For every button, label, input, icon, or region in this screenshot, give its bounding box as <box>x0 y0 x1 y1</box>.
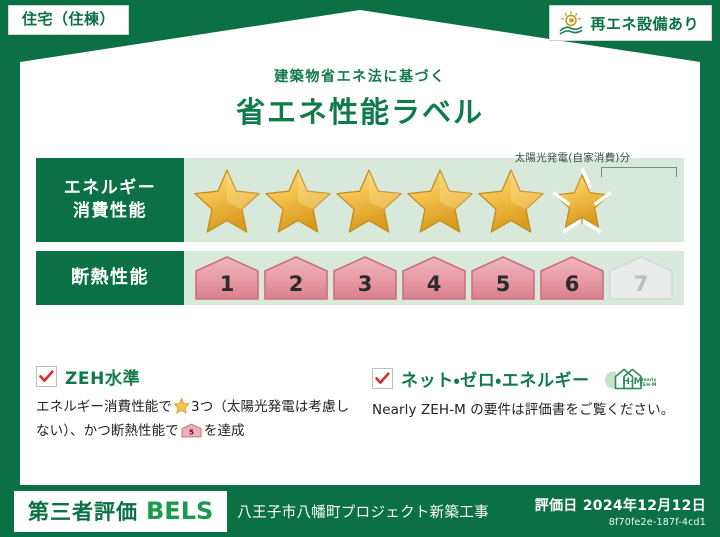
insulation-performance-label: 断熱性能 <box>36 251 184 305</box>
insulation-level-3-value: 3 <box>358 272 373 296</box>
energy-performance-row: エネルギー 消費性能 <box>36 158 684 242</box>
insulation-level-4: 4 <box>401 255 467 301</box>
zeh-checkbox[interactable] <box>36 366 57 387</box>
insulation-level-6-value: 6 <box>565 272 580 296</box>
star-filled-2 <box>263 166 333 234</box>
criterion-zeh-text-1: エネルギー消費性能で <box>36 399 172 415</box>
renewable-energy-badge: 再エネ設備あり <box>549 5 712 41</box>
energy-stars-panel: 太陽光発電(自家消費)分 <box>184 158 684 242</box>
renewable-badge-text: 再エネ設備あり <box>590 13 699 34</box>
insulation-levels-panel: 1 2 3 <box>184 251 684 305</box>
star-filled-4 <box>405 166 475 234</box>
inline-house-level-icon: 5 <box>181 422 202 446</box>
evaluation-info: 評価日 2024年12月12日 8f70fe2e-187f-4cd1 <box>535 495 706 528</box>
building-type-badge: 住宅（住棟） <box>8 5 129 35</box>
inline-house-level-value: 5 <box>189 429 194 437</box>
energy-label-line2: 消費性能 <box>73 200 147 223</box>
insulation-level-2-value: 2 <box>289 272 304 296</box>
criterion-nze-body: Nearly ZEH-M の要件は評価書をご覧ください。 <box>372 400 686 421</box>
criterion-zeh-body: エネルギー消費性能で 3つ（太陽光発電は考慮しない）、かつ断熱性能で 5 を達成 <box>36 397 350 446</box>
criterion-net-zero-energy: ネット・ゼロ・エネルギー H-M Nearly ZEH-M Nearly ZEH… <box>372 364 686 446</box>
performance-rows: エネルギー 消費性能 <box>36 158 684 314</box>
insulation-level-5: 5 <box>470 255 536 301</box>
label-title: 省エネ性能ラベル <box>0 89 720 131</box>
project-name: 八王子市八幡町プロジェクト新築工事 <box>237 501 489 522</box>
evaluation-date: 評価日 2024年12月12日 <box>535 495 706 515</box>
insulation-level-1: 1 <box>194 255 260 301</box>
label-footer: 第三者評価 BELS 八王子市八幡町プロジェクト新築工事 評価日 2024年12… <box>0 485 720 537</box>
criterion-zeh-standard: ZEH水準 エネルギー消費性能で 3つ（太陽光発電は考慮しない）、かつ断熱性能で… <box>36 364 350 446</box>
criterion-zeh-text-3: を達成 <box>204 423 245 439</box>
insulation-level-7-value: 7 <box>634 272 649 296</box>
bels-logo-jp: 第三者評価 <box>28 496 138 526</box>
building-type-text: 住宅（住棟） <box>22 10 115 28</box>
star-filled-1 <box>192 166 262 234</box>
star-filled-3 <box>334 166 404 234</box>
insulation-level-6: 6 <box>539 255 605 301</box>
insulation-level-5-value: 5 <box>496 272 511 296</box>
label-subtitle: 建築物省エネ法に基づく <box>0 66 720 86</box>
zeh-m-logo-icon: H-M Nearly ZEH-M <box>602 364 656 392</box>
bels-logo: 第三者評価 BELS <box>14 491 227 532</box>
insulation-level-7: 7 <box>608 255 674 301</box>
criterion-nze-title: ネット・ゼロ・エネルギー <box>401 366 590 391</box>
solar-annotation-text: 太陽光発電(自家消費)分 <box>515 150 631 165</box>
check-icon <box>39 370 54 383</box>
insulation-level-1-value: 1 <box>220 272 235 296</box>
zeh-m-logo-caption-2: ZEH-M <box>639 382 655 388</box>
energy-label-line1: エネルギー <box>64 177 157 200</box>
bels-logo-en: BELS <box>146 497 213 525</box>
insulation-level-2: 2 <box>263 255 329 301</box>
insulation-level-3: 3 <box>332 255 398 301</box>
inline-star-icon <box>173 397 190 421</box>
evaluation-uid: 8f70fe2e-187f-4cd1 <box>535 517 706 528</box>
criterion-nze-header: ネット・ゼロ・エネルギー H-M Nearly ZEH-M <box>372 364 686 392</box>
star-filled-5 <box>476 166 546 234</box>
solar-annotation-bracket <box>601 167 677 177</box>
insulation-level-4-value: 4 <box>427 272 442 296</box>
nze-checkbox[interactable] <box>372 368 393 389</box>
label-title-block: 建築物省エネ法に基づく 省エネ性能ラベル <box>0 66 720 131</box>
bels-energy-label: 住宅（住棟） 再エネ設備あり 建築物省エネ法に基づく 省エネ性能ラベル <box>0 0 720 537</box>
criterion-zeh-star-count: 3つ <box>191 399 213 415</box>
insulation-label-text: 断熱性能 <box>71 266 149 290</box>
solar-sun-icon <box>558 10 584 36</box>
insulation-level-scale: 1 2 3 <box>194 255 674 301</box>
solar-annotation: 太陽光発電(自家消費)分 <box>465 146 680 165</box>
insulation-performance-row: 断熱性能 1 <box>36 251 684 305</box>
energy-star-rating <box>192 166 617 234</box>
criterion-zeh-header: ZEH水準 <box>36 364 350 389</box>
energy-performance-label: エネルギー 消費性能 <box>36 158 184 242</box>
criterion-zeh-title: ZEH水準 <box>65 364 140 389</box>
check-icon <box>375 372 390 385</box>
criteria-section: ZEH水準 エネルギー消費性能で 3つ（太陽光発電は考慮しない）、かつ断熱性能で… <box>36 364 686 446</box>
